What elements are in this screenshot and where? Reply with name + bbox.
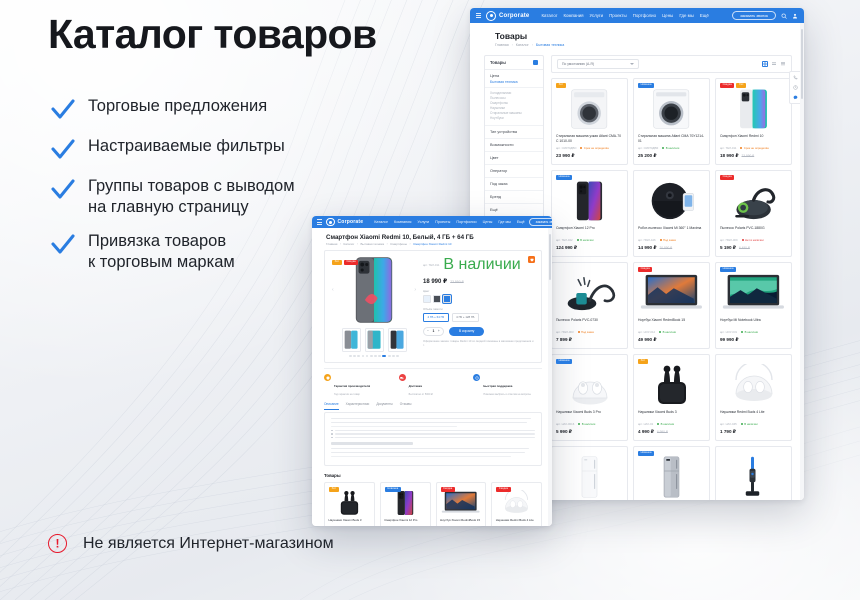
product-meta: арт. НОУ-031В наличии [720, 330, 787, 334]
filter-checkbox-list: Холодильники Пылесосы Смартфоны Наушники… [485, 88, 543, 126]
sort-value: По умолчанию (A-Я) [562, 62, 594, 66]
product-price: 18 990 ₽23 990 ₽ [720, 153, 787, 159]
product-article: арт. ТЕЛ-022 [556, 238, 573, 242]
product-title: Смартфон Xiaomi 12 Pro [384, 519, 426, 526]
breadcrumb-item-current: Бытовая техника [536, 43, 564, 47]
price-current: 23 990 ₽ [556, 153, 575, 159]
feature-label: Настраиваемые фильтры [88, 136, 285, 157]
badge: Хит [736, 83, 746, 88]
product-image [496, 490, 538, 516]
nav-item[interactable]: Компания [563, 13, 583, 18]
product-site-header: Corporate Каталог Компания Услуги Проект… [312, 216, 552, 228]
product-price: 4 990 ₽6 990 ₽ [638, 429, 705, 435]
product-card[interactable]: Двухкамерный холодильник с дисплеем Atla… [551, 446, 628, 500]
check-mark-icon [50, 97, 76, 123]
nav-item[interactable]: Ещё [517, 220, 525, 224]
product-grid-area: По умолчанию (A-Я) [551, 55, 792, 500]
product-price: 5 990 ₽ [556, 429, 623, 435]
color-swatch-selected[interactable] [443, 295, 451, 303]
price-old: 20 990 ₽ [660, 246, 673, 250]
thumbnail[interactable] [342, 328, 361, 352]
badge: Скидка [496, 487, 510, 492]
breadcrumb-item-current: Смартфон Xiaomi Redmi 10 [413, 242, 451, 246]
price-current: 14 990 ₽ [638, 245, 657, 251]
card-badges: Хит [638, 359, 648, 364]
product-card[interactable]: НовинкаНоутбук Mi Notebook Ultraарт. НОУ… [715, 262, 792, 349]
price-current: 4 990 ₽ [638, 429, 654, 435]
tab-documents[interactable]: Документы [376, 402, 392, 410]
color-swatch[interactable] [423, 295, 431, 303]
product-price: 14 990 ₽20 990 ₽ [638, 245, 705, 251]
price-current: 7 899 ₽ [556, 337, 572, 343]
product-title: Ноутбук Mi Notebook Ultra [720, 318, 787, 327]
price-current: 124 990 ₽ [556, 245, 577, 251]
perk-item: Доставка Бесплатно от 5000 ₽ [399, 374, 468, 396]
feature-item: Группы товаров с выводом на главную стра… [50, 176, 410, 218]
product-image [329, 490, 371, 516]
price-old: 23 990 ₽ [450, 280, 463, 284]
product-image [638, 456, 705, 498]
product-price: 124 990 ₽ [556, 245, 623, 251]
related-product-card[interactable]: ХитНаушники Xiaomi Buds 3арт. НАУ-02В на… [324, 482, 375, 526]
product-image [720, 88, 787, 130]
header-actions: заказать звонок [732, 11, 798, 20]
color-swatches [423, 295, 535, 303]
product-meta: арт. НАУ-0016В наличии [556, 422, 623, 426]
tab-description[interactable]: Описание [324, 402, 339, 410]
product-title: Пылесос Polaris PVC-1880G [720, 226, 787, 235]
check-mark-icon [50, 177, 76, 203]
memory-option[interactable]: 4 ГБ + 128 ГБ [452, 313, 479, 322]
product-article: арт. НАУ-02 [638, 422, 653, 426]
badge: Скидка [720, 83, 734, 88]
price-current: 1 790 ₽ [720, 429, 736, 435]
product-card[interactable]: СкидкаНоутбук Xiaomi RedmiBook 15арт. НО… [633, 262, 710, 349]
badge: Скидка [720, 175, 734, 180]
product-title: Наушники Xiaomi Buds 3 [329, 519, 371, 526]
product-card[interactable]: СкидкаХитСмартфон Xiaomi Redmi 10арт. ТЕ… [715, 78, 792, 165]
price-old: 6 490 ₽ [739, 246, 750, 250]
nav-item[interactable]: Проекты [435, 220, 450, 224]
status-badge: Нет в наличии [742, 238, 764, 242]
product-title: Наушники Xiaomi Buds 3 Pro [556, 410, 623, 419]
page-title: Каталог товаров [48, 12, 377, 58]
status-badge: В наличии [659, 330, 676, 334]
status-badge: В наличии [741, 422, 758, 426]
filter-title: Товары [490, 60, 506, 65]
product-image [720, 180, 787, 222]
price-current: 5 990 ₽ [556, 429, 572, 435]
product-card[interactable]: НовинкаДвухкамерный холодильник с диспле… [633, 446, 710, 500]
product-title: Робот-пылесос Xiaomi Mi 360° 1 Maxima [638, 226, 705, 235]
badge: Хит [332, 260, 342, 265]
product-title: Смартфон Xiaomi 12 Pro [556, 226, 623, 235]
status-badge: В наличии [662, 146, 679, 150]
product-article: арт. ПЫЛ-003 [556, 330, 574, 334]
color-swatch[interactable] [433, 295, 441, 303]
badge: Скидка [638, 267, 652, 272]
brand-name: Corporate [499, 13, 529, 19]
main-nav: Каталог Компания Услуги Проекты Портфоли… [374, 220, 524, 224]
filter-row[interactable]: Бренд [485, 191, 543, 204]
price-current: 5 190 ₽ [720, 245, 736, 251]
filter-toggle-icon[interactable] [533, 60, 538, 65]
card-badges: Скидка [496, 487, 510, 492]
price-current: 25 200 ₽ [638, 153, 657, 159]
card-badges: Новинка [720, 267, 736, 272]
view-mode-group [762, 61, 786, 67]
catalog-site-header: Corporate Каталог Компания Услуги Проект… [470, 8, 804, 23]
card-badges: Новинка [556, 175, 572, 180]
filter-row[interactable]: Ещё [485, 204, 543, 216]
memory-options: 4 ГБ + 64 ГБ 4 ГБ + 128 ГБ [423, 313, 535, 322]
product-image [556, 180, 623, 222]
product-image [556, 364, 623, 406]
clock-icon[interactable] [793, 85, 798, 90]
catalog-toolbar: По умолчанию (A-Я) [551, 55, 792, 73]
grid-view-icon[interactable] [762, 61, 768, 67]
product-title: Стиральная машина Atlant СМА 70У1214-01 [638, 134, 705, 143]
gallery-main-image[interactable]: Хит Скидка ‹ › [331, 256, 417, 324]
product-price: 18 990 ₽ 23 990 ₽ [423, 278, 535, 285]
product-image [556, 456, 623, 498]
user-account-icon[interactable] [792, 13, 798, 19]
product-article: арт. СМ070ДВО [556, 146, 576, 150]
nav-item[interactable]: Цены [483, 220, 493, 224]
product-meta: арт. НАУ-045В наличии [720, 422, 787, 426]
price-current: 18 990 ₽ [720, 153, 739, 159]
perk-title: Гарантия производителя [334, 384, 370, 388]
badge: Скидка [344, 260, 358, 265]
chevron-left-icon[interactable]: ‹ [332, 287, 334, 293]
color-option-label: Цвет [423, 289, 535, 293]
product-article: арт. ТЕЛ-011 [720, 146, 736, 150]
product-title: Смартфон Xiaomi Redmi 10 [720, 134, 787, 143]
nav-item[interactable]: Портфолио [456, 220, 476, 224]
nav-item[interactable]: Услуги [590, 13, 604, 18]
price-old: 6 990 ₽ [657, 430, 668, 434]
slide-stage: Каталог товаров Торговые предложения Нас… [0, 0, 860, 600]
product-image [556, 88, 623, 130]
product-meta: арт. ПЫЛ-003Под заказ [556, 330, 623, 334]
product-price: 1 790 ₽ [720, 429, 787, 435]
product-price: 5 190 ₽6 490 ₽ [720, 245, 787, 251]
product-description [324, 412, 542, 466]
catalog-page-title: Товары [470, 23, 804, 43]
gallery-badges: Хит Скидка [332, 260, 358, 265]
disclaimer-text: Не является Интернет-магазином [83, 535, 334, 553]
badge: Скидка [441, 487, 455, 492]
tab-specs[interactable]: Характеристики [346, 402, 370, 410]
product-perks: Гарантия производителя Год гарантии на т… [324, 368, 542, 396]
product-meta: арт. ПЫЛ-009Нет в наличии [720, 238, 787, 242]
status-badge: Срок не определён [740, 146, 768, 150]
perk-item: Гарантия производителя Год гарантии на т… [324, 374, 393, 396]
price-old: 23 990 ₽ [742, 154, 755, 158]
product-browser-window: Corporate Каталог Компания Услуги Проект… [312, 216, 552, 526]
filter-row[interactable]: Оператор [485, 165, 543, 178]
product-page: Смартфон Xiaomi Redmi 10, Белый, 4 ГБ + … [312, 228, 552, 526]
product-article: арт. НОУ-031 [720, 330, 737, 334]
product-meta: арт. ТЕЛ-022В наличии [556, 238, 623, 242]
price-current: 99 990 ₽ [720, 337, 739, 343]
product-tabs: Описание Характеристики Документы Отзывы [324, 402, 542, 410]
badge: Новинка [720, 267, 736, 272]
nav-item[interactable]: Компания [394, 220, 411, 224]
shield-icon [324, 374, 331, 381]
product-image [440, 490, 482, 516]
nav-item[interactable]: Ещё [700, 13, 709, 18]
product-image [720, 272, 787, 314]
product-title: Наушники Xiaomi Buds 3 [638, 410, 705, 419]
product-card[interactable]: НовинкаСмартфон Xiaomi 12 Proарт. ТЕЛ-02… [551, 170, 628, 257]
filter-header: Товары [485, 56, 543, 70]
product-price: 99 990 ₽ [720, 337, 787, 343]
product-scrollbar[interactable] [548, 228, 552, 526]
product-info-top: арт. ТЕЛ-011 В наличии [423, 256, 535, 274]
product-card[interactable]: Вертикальный ручной пылесос «2 в 1» KITF… [715, 446, 792, 500]
filter-row[interactable]: Возможности [485, 139, 543, 152]
gallery-pagination-dots[interactable] [331, 355, 417, 357]
badge: Новинка [638, 83, 654, 88]
nav-item[interactable]: Проекты [609, 13, 627, 18]
product-title: Ноутбук Xiaomi RedmiBook 15 [638, 318, 705, 327]
card-badges: Скидка [720, 175, 734, 180]
sort-select[interactable]: По умолчанию (A-Я) [557, 59, 639, 69]
product-page-title: Смартфон Xiaomi Redmi 10, Белый, 4 ГБ + … [312, 228, 552, 242]
nav-item[interactable]: Портфолио [633, 13, 656, 18]
memory-option-selected[interactable]: 4 ГБ + 64 ГБ [423, 313, 449, 322]
status-badge: Срок не определён [580, 146, 608, 150]
filter-option[interactable]: Ноутбуки [490, 116, 538, 121]
breadcrumb-item[interactable]: Каталог [343, 242, 354, 246]
product-article: арт. НАУ-045 [720, 422, 737, 426]
related-products-title: Товары [324, 473, 542, 478]
card-badges: Новинка [638, 451, 654, 456]
product-title: Стиральная машина узкая Atlant СМА-70 С … [556, 134, 623, 143]
filter-group-link[interactable]: Бытовая техника [490, 80, 538, 84]
card-badges: Скидка [441, 487, 455, 492]
hamburger-menu-icon[interactable] [317, 219, 322, 224]
price-current: 18 990 ₽ [423, 278, 447, 285]
badge: Хит [329, 487, 339, 492]
support-icon [473, 374, 480, 381]
related-product-card[interactable]: НовинкаСмартфон Xiaomi 12 Proарт. ТЕЛ-02… [380, 482, 431, 526]
gallery-thumbnails [331, 328, 417, 352]
header-actions: заказать звонок [529, 218, 552, 226]
perk-title: Доставка [409, 384, 422, 388]
feature-item: Торговые предложения [50, 96, 410, 123]
thumbnail[interactable] [388, 328, 407, 352]
product-article: арт. ТЕЛ-011 [423, 263, 439, 267]
product-image [720, 456, 787, 498]
badge: Новинка [556, 175, 572, 180]
badge: Хит [638, 359, 648, 364]
product-card[interactable]: Робот-пылесос Xiaomi Mi 360° 1 Maximaарт… [633, 170, 710, 257]
product-title: Наушники Redmi Buds 4 Lite [496, 519, 538, 526]
product-detail-body: Хит Скидка ‹ › [312, 246, 552, 526]
disclaimer-note: ! Не является Интернет-магазином [48, 534, 334, 553]
product-title: Наушники Redmi Buds 4 Lite [720, 410, 787, 419]
breadcrumb-item[interactable]: Главная [495, 43, 509, 47]
corporate-logo-icon[interactable]: Corporate [486, 11, 529, 21]
nav-item[interactable]: Цены [662, 13, 673, 18]
compact-view-icon[interactable] [780, 61, 786, 67]
badge: Новинка [638, 451, 654, 456]
call-request-button[interactable]: заказать звонок [529, 218, 552, 226]
card-badges: Скидка [638, 267, 652, 272]
filter-group-price: Цена Бытовая техника [485, 70, 543, 88]
breadcrumb-item[interactable]: Каталог [516, 43, 529, 47]
product-meta: арт. НАУ-02В наличии [638, 422, 705, 426]
card-badges: СкидкаХит [720, 83, 746, 88]
filter-row[interactable]: Под заказ [485, 178, 543, 191]
product-meta: арт. НОУ-012В наличии [638, 330, 705, 334]
memory-option-label: Объём памяти [423, 307, 535, 311]
product-article: арт. СМ070ДВЯ [638, 146, 658, 150]
heart-icon[interactable] [528, 256, 535, 263]
breadcrumb-item[interactable]: Смартфоны [390, 242, 407, 246]
status-badge: В наличии [578, 422, 595, 426]
breadcrumb-item[interactable]: Главная [326, 242, 337, 246]
product-price: 23 990 ₽ [556, 153, 623, 159]
feature-label: Группы товаров с выводом на главную стра… [88, 176, 295, 218]
perk-sub: Бесплатно от 5000 ₽ [409, 393, 433, 396]
breadcrumb-item[interactable]: Бытовая техника [360, 242, 384, 246]
nav-item[interactable]: Услуги [417, 220, 429, 224]
product-card[interactable]: НовинкаСтиральная машина Atlant СМА 70У1… [633, 78, 710, 165]
product-article: арт. НОУ-012 [638, 330, 655, 334]
product-price: 25 200 ₽ [638, 153, 705, 159]
product-article: арт. ПЫЛ-009 [720, 238, 738, 242]
product-meta: арт. ПЫЛ-446Под заказ [638, 238, 705, 242]
product-price: 49 990 ₽ [638, 337, 705, 343]
product-info-panel: арт. ТЕЛ-011 В наличии 18 990 ₽ [423, 256, 535, 357]
product-main-block: Хит Скидка ‹ › [324, 250, 542, 363]
nav-item[interactable]: Где мы [498, 220, 511, 224]
quantity-increase[interactable]: + [438, 329, 440, 333]
related-product-card[interactable]: СкидкаНоутбук Xiaomi RedmiBook 15арт. НО… [436, 482, 487, 526]
nav-item[interactable]: Каталог [374, 220, 388, 224]
product-card[interactable]: СкидкаПылесос Polaris PVC-1880Gарт. ПЫЛ-… [715, 170, 792, 257]
thumbnail[interactable] [365, 328, 384, 352]
brand-name: Corporate [338, 219, 364, 225]
product-article: арт. НАУ-0016 [556, 422, 574, 426]
status-badge: В наличии [577, 238, 594, 242]
tab-reviews[interactable]: Отзывы [400, 402, 412, 410]
product-card[interactable]: НовинкаНаушники Xiaomi Buds 3 Proарт. НА… [551, 354, 628, 441]
badge: Хит [556, 83, 566, 88]
purchase-note: Оформление заказа: товары Redmi 10 со ск… [423, 340, 535, 348]
call-request-button[interactable]: заказать звонок [732, 11, 776, 20]
product-image [556, 272, 623, 314]
product-title: Ноутбук Xiaomi RedmiBook 15 [440, 519, 482, 526]
product-image [638, 272, 705, 314]
exclamation-circle-icon: ! [48, 534, 67, 553]
perk-title: Быстрая поддержка [483, 384, 512, 388]
card-badges: Хит [329, 487, 339, 492]
related-product-card[interactable]: СкидкаНаушники Redmi Buds 4 Liteарт. НАУ… [491, 482, 542, 526]
filter-row[interactable]: Тип устройства [485, 126, 543, 139]
price-current: 49 990 ₽ [638, 337, 657, 343]
status-badge: В наличии [657, 422, 674, 426]
quantity-decrease[interactable]: − [427, 329, 429, 333]
search-icon[interactable] [781, 13, 787, 19]
status-badge: В наличии [741, 330, 758, 334]
status-badge: Под заказ [578, 330, 594, 334]
product-meta: арт. ТЕЛ-011 В наличии [423, 256, 521, 274]
product-card[interactable]: ХитСтиральная машина узкая Atlant СМА-70… [551, 78, 628, 165]
product-image [638, 88, 705, 130]
product-title: Пылесос Polaris PVC-0730 [556, 318, 623, 327]
product-image [638, 364, 705, 406]
messenger-icon[interactable] [793, 95, 798, 100]
card-badges: Новинка [385, 487, 401, 492]
related-products: ХитНаушники Xiaomi Buds 3арт. НАУ-02В на… [324, 482, 542, 526]
card-badges: Новинка [638, 83, 654, 88]
catalog-scrollbar[interactable] [800, 23, 804, 500]
main-nav: Каталог Компания Услуги Проекты Портфоли… [541, 13, 708, 18]
corporate-logo-icon[interactable]: Corporate [326, 218, 363, 227]
chevron-down-icon [630, 63, 634, 65]
status-badge: Под заказ [660, 238, 676, 242]
product-grid: ХитСтиральная машина узкая Atlant СМА-70… [551, 78, 792, 500]
product-card[interactable]: Пылесос Polaris PVC-0730арт. ПЫЛ-003Под … [551, 262, 628, 349]
add-to-cart-button[interactable]: В корзину [449, 327, 484, 336]
product-article: арт. ПЫЛ-446 [638, 238, 656, 242]
product-image [384, 490, 426, 516]
product-meta: арт. ТЕЛ-011Срок не определён [720, 146, 787, 150]
nav-item[interactable]: Где мы [679, 13, 693, 18]
perk-sub: Год гарантии на товар [334, 393, 370, 396]
product-meta: арт. СМ070ДВЯВ наличии [638, 146, 705, 150]
product-gallery: Хит Скидка ‹ › [331, 256, 417, 357]
product-card[interactable]: ХитНаушники Xiaomi Buds 3арт. НАУ-02В на… [633, 354, 710, 441]
list-view-icon[interactable] [771, 61, 777, 67]
badge: Новинка [556, 359, 572, 364]
check-mark-icon [50, 232, 76, 258]
feature-label: Привязка товаров к торговым маркам [88, 231, 235, 273]
check-mark-icon [50, 137, 76, 163]
badge: Новинка [385, 487, 401, 492]
product-image [638, 180, 705, 222]
status-badge: В наличии [443, 256, 520, 274]
chevron-right-icon[interactable]: › [414, 287, 416, 293]
quantity-stepper[interactable]: − 1 + [423, 327, 444, 336]
card-badges: Новинка [556, 359, 572, 364]
perk-item: Быстрая поддержка Поможем выбрать и отве… [473, 374, 542, 396]
purchase-row: − 1 + В корзину [423, 327, 535, 336]
feature-item: Настраиваемые фильтры [50, 136, 410, 163]
product-price: 7 899 ₽ [556, 337, 623, 343]
hamburger-menu-icon[interactable] [476, 13, 481, 18]
phone-call-icon[interactable] [793, 75, 798, 80]
product-card[interactable]: Наушники Redmi Buds 4 Liteарт. НАУ-045В … [715, 354, 792, 441]
quantity-value: 1 [432, 329, 434, 333]
truck-icon [399, 374, 406, 381]
perk-sub: Поможем выбрать и ответим на вопросы [483, 393, 531, 396]
nav-item[interactable]: Каталог [541, 13, 557, 18]
card-badges: Хит [556, 83, 566, 88]
filter-row[interactable]: Цвет [485, 152, 543, 165]
phone-image [354, 256, 394, 324]
filter-group-label: Цена [490, 74, 538, 78]
product-meta: арт. СМ070ДВОСрок не определён [556, 146, 623, 150]
product-image [720, 364, 787, 406]
feature-label: Торговые предложения [88, 96, 267, 117]
